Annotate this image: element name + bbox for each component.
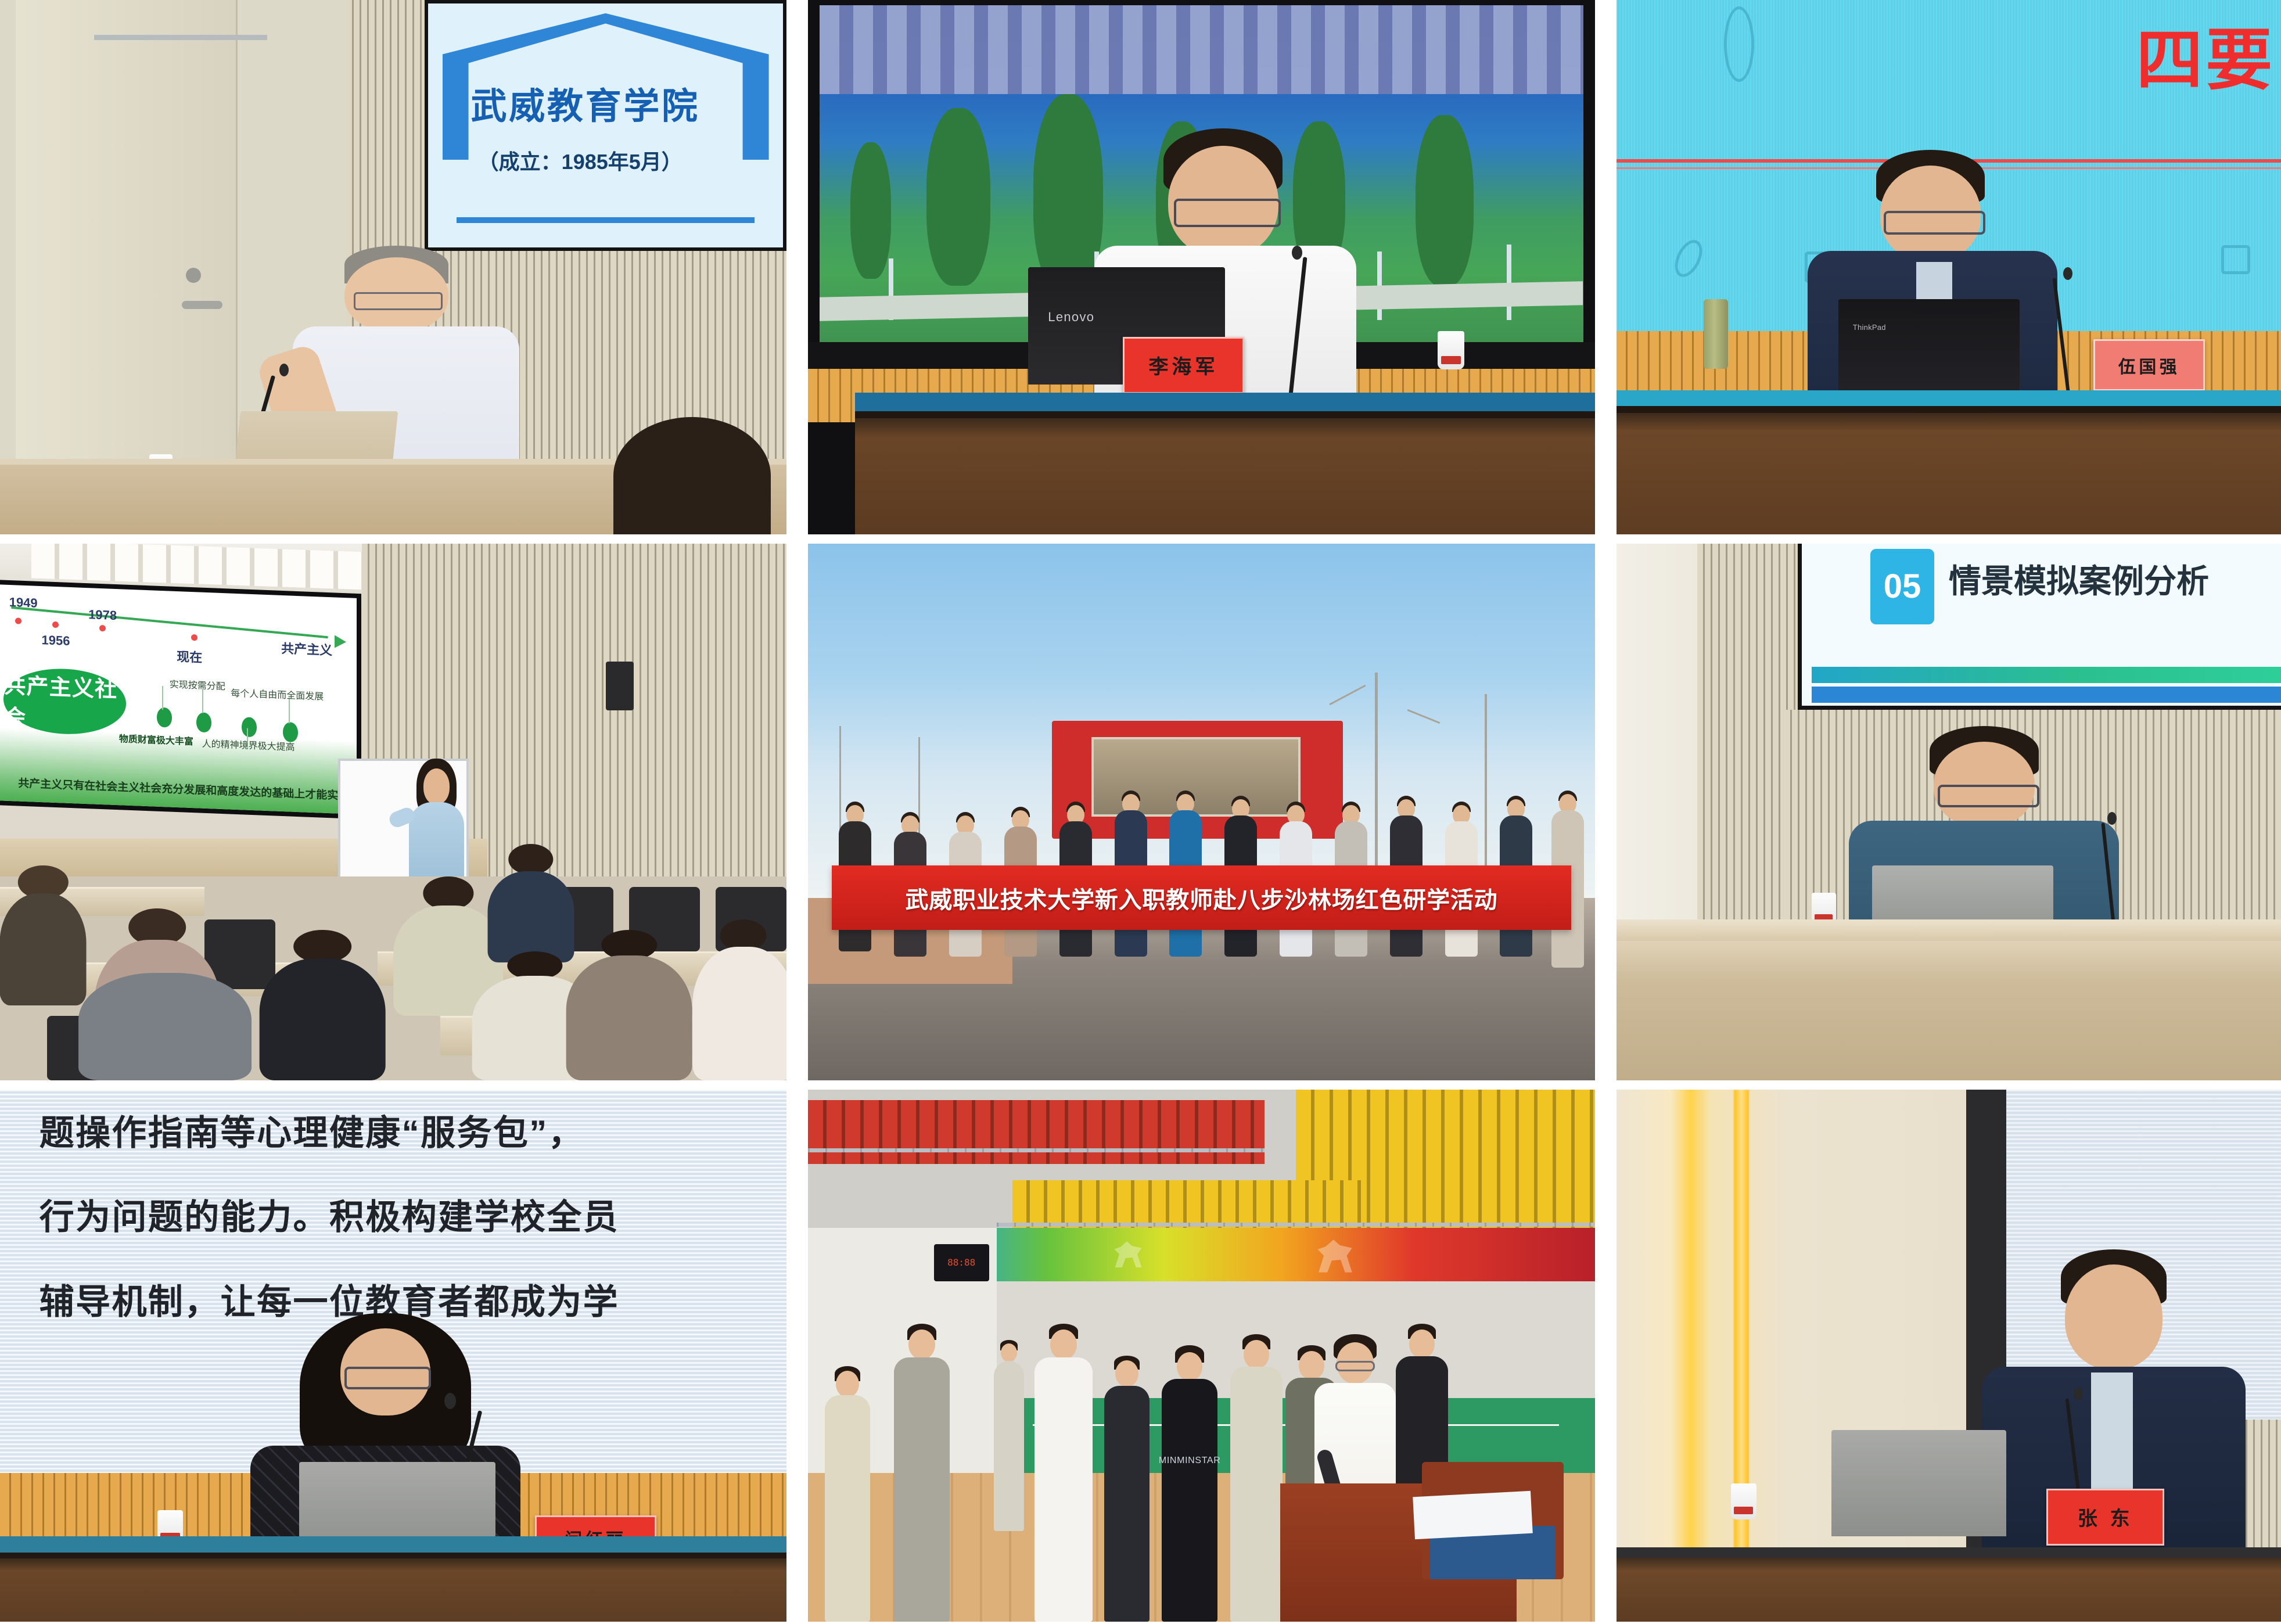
head [836, 1371, 859, 1397]
collage-photo-5[interactable]: 武威职业技术大学新入职教师赴八步沙林场红色研学活动 [808, 544, 1595, 1080]
head [2065, 1264, 2163, 1370]
timeline-dot [191, 634, 197, 641]
lecturer-person-4 [409, 759, 464, 888]
attendee-standing [1225, 1334, 1288, 1622]
body [1230, 1367, 1283, 1622]
timeline-label-1978: 1978 [89, 608, 117, 624]
timeline-dot [53, 621, 59, 628]
beige-curtain [1617, 1090, 2006, 1622]
attendee-standing-background [989, 1340, 1029, 1532]
slide-line-2: 行为问题的能力。积极构建学校全员 [39, 1189, 619, 1239]
glasses-icon [1335, 1361, 1375, 1371]
paper-cup-2 [1438, 331, 1464, 369]
projection-screen-4: 1949 1956 1978 现在 共产主义 共产主义社会 物质财富极大丰富 实… [0, 580, 362, 820]
head [1001, 1343, 1017, 1362]
body [566, 955, 692, 1080]
photo-collage: 武威教育学院 （成立：1985年5月） [0, 0, 2281, 1624]
microphone-head-6 [2107, 812, 2117, 825]
attendee-standing: MINMINSTAR [1154, 1345, 1225, 1622]
bubble-text: 共产主义社会 [4, 667, 127, 736]
body [692, 947, 786, 1080]
door [16, 0, 238, 470]
desk-top-2 [855, 393, 1595, 411]
body [260, 958, 386, 1080]
nameplate-3: 伍国强 [2093, 339, 2204, 391]
attendee-standing [887, 1324, 958, 1622]
head [1050, 1330, 1077, 1360]
tree [1416, 115, 1474, 286]
yellow-light-strip [1734, 1090, 1748, 1622]
slide-bubble-label: 共产主义社会 [4, 667, 127, 736]
body [1104, 1386, 1150, 1622]
microphone-head-9 [2074, 1388, 2083, 1400]
timeline-label-1949: 1949 [9, 595, 38, 611]
laptop-brand-3: ThinkPad [1853, 323, 1886, 332]
event-banner: 武威职业技术大学新入职教师赴八步沙林场红色研学活动 [832, 865, 1572, 930]
grandstand-seats-red [808, 1100, 1265, 1164]
slide-blue-band [1812, 687, 2281, 703]
head [1409, 1330, 1435, 1359]
head [908, 1330, 935, 1360]
attendee-standing [1099, 1356, 1154, 1622]
shirt-print-text: MINMINSTAR [1159, 1456, 1221, 1466]
laptop-brand-2: Lenovo [1048, 310, 1094, 325]
student-seated [78, 973, 252, 1080]
campus-building-image [820, 5, 1583, 94]
head [1177, 1352, 1202, 1381]
glasses-icon [1938, 785, 2039, 807]
wall-shelf [94, 35, 267, 40]
collage-photo-6[interactable]: 05 情景模拟案例分析 [1617, 544, 2281, 1080]
lectern-desk-2 [855, 411, 1595, 534]
collage-photo-2[interactable]: Lenovo 李海军 [808, 0, 1595, 534]
lectern-desk-6 [1617, 941, 2281, 1080]
bare-tree [1375, 673, 1378, 866]
leaf-marker [242, 717, 257, 737]
student-seated [692, 919, 786, 1080]
projection-screen-1: 武威教育学院 （成立：1985年5月） [425, 0, 786, 251]
event-banner-text: 武威职业技术大学新入职教师赴八步沙林场红色研学活动 [905, 881, 1497, 915]
body [0, 893, 87, 1005]
lectern-desk-7 [0, 1553, 786, 1622]
body [1162, 1379, 1217, 1622]
slide-underline [457, 217, 755, 223]
slide-subtitle-1: （成立：1985年5月） [478, 145, 682, 175]
collage-photo-4[interactable]: 1949 1956 1978 现在 共产主义 共产主义社会 物质财富极大丰富 实… [0, 544, 786, 1080]
chapter-title-6: 情景模拟案例分析 [1949, 555, 2209, 602]
decorative-color-band [942, 1228, 1595, 1281]
leaf-marker [157, 707, 173, 728]
paper-cup-9 [1731, 1483, 1756, 1519]
collage-photo-9[interactable]: 张 东 [1617, 1090, 2281, 1622]
head [1115, 1360, 1138, 1387]
desk-top-3 [1617, 390, 2281, 407]
timeline-arrow-icon [335, 635, 346, 648]
slide-headline-3: 四要 [2136, 6, 2275, 103]
body [1034, 1357, 1093, 1622]
student-seated [487, 844, 574, 962]
flying-horse-icon [1314, 1238, 1358, 1273]
speech-papers [1413, 1491, 1533, 1540]
laptop-lid-9 [1831, 1430, 2006, 1536]
lectern-desk-3 [1617, 406, 2281, 534]
collage-photo-8[interactable]: 88:88 [808, 1090, 1595, 1622]
head [423, 876, 473, 910]
glasses-icon [1174, 199, 1281, 227]
timeline-label-1956: 1956 [42, 633, 70, 649]
glasses-icon [354, 292, 442, 310]
doodle-shape [2221, 245, 2250, 274]
slide-bullet-4: 每个人自由而全面发展 [231, 685, 324, 703]
door-knob-icon [186, 268, 201, 283]
tree [850, 142, 891, 279]
student-seated [0, 865, 87, 1005]
head [508, 844, 553, 875]
slide-bullet-1: 物质财富极大丰富 [119, 731, 193, 748]
slide-title-1: 武威教育学院 [470, 77, 699, 129]
guard-rail [808, 1148, 1265, 1152]
tree [926, 108, 990, 286]
chapter-number-badge: 05 [1870, 549, 1934, 624]
body [78, 973, 252, 1080]
guard-rail [997, 1223, 1595, 1227]
bare-tree [1485, 694, 1487, 866]
student-seated [566, 930, 692, 1080]
body [894, 1357, 950, 1622]
doodle-shape [1724, 6, 1754, 82]
slide-teal-band [1812, 667, 2281, 683]
student-seated [260, 930, 386, 1080]
timeline-label-communism: 共产主义 [282, 638, 333, 659]
nameplate-2: 李海军 [1123, 337, 1244, 394]
nameplate-9: 张 东 [2046, 1489, 2164, 1546]
collage-photo-3[interactable]: 四要 ThinkPad 伍国强 [1617, 0, 2281, 534]
torso [409, 802, 464, 887]
desk-top-6 [1617, 919, 2281, 941]
wall-speaker-icon [606, 662, 634, 710]
timeline-dot [99, 625, 106, 631]
glasses-icon [1884, 211, 1985, 234]
body [825, 1395, 870, 1622]
glasses-icon [344, 1367, 431, 1389]
microphone-head-7 [444, 1393, 456, 1409]
leaf-stem [202, 689, 203, 713]
tree [1033, 94, 1103, 293]
attendee-standing [1028, 1324, 1099, 1622]
timeline-label-now: 现在 [177, 646, 203, 666]
attendee-standing [816, 1366, 879, 1622]
flying-horse-icon [1112, 1239, 1147, 1267]
conference-desk-9 [1617, 1558, 2281, 1622]
scoreboard: 88:88 [934, 1244, 989, 1281]
door-handle-icon [182, 301, 222, 309]
body [994, 1361, 1024, 1532]
head [423, 768, 450, 804]
microphone-head-1 [279, 364, 289, 376]
timeline-dot [16, 617, 22, 624]
collage-photo-7[interactable]: 题操作指南等心理健康“服务包”， 行为问题的能力。积极构建学校全员 辅导机制，让… [0, 1090, 786, 1622]
slide-line-1: 题操作指南等心理健康“服务包”， [39, 1105, 584, 1155]
thermos-bottle [1704, 299, 1728, 369]
projection-screen-6: 05 情景模拟案例分析 [1798, 544, 2281, 710]
collage-photo-1[interactable]: 武威教育学院 （成立：1985年5月） [0, 0, 786, 534]
slide-bullet-2: 实现按需分配 [170, 676, 225, 692]
body [487, 871, 574, 962]
leaf-marker [197, 712, 212, 732]
head [1244, 1340, 1269, 1369]
audience-head-silhouette [613, 417, 771, 534]
leaf-stem [163, 686, 164, 710]
